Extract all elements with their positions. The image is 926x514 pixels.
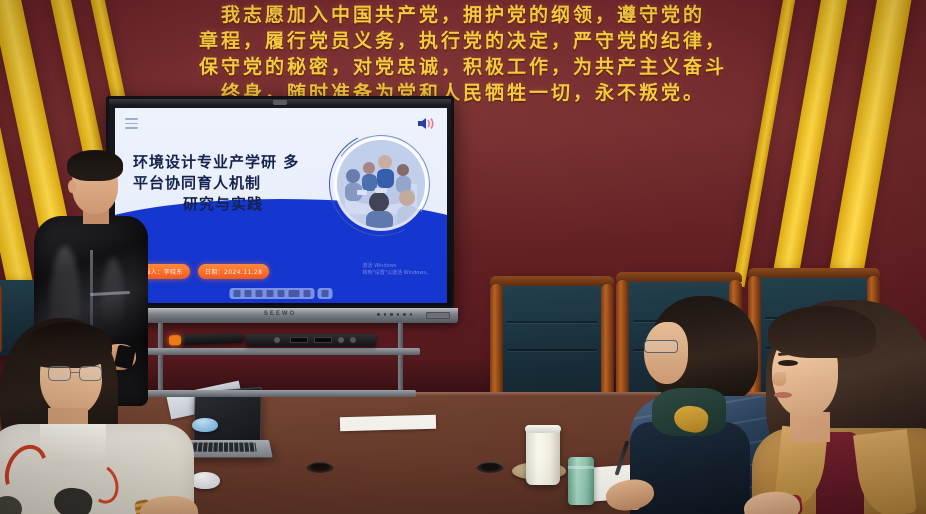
- chair-arm-left: [490, 284, 503, 402]
- paper-sheet: [340, 415, 436, 432]
- attendee-right-lips: [774, 392, 792, 398]
- chair-top-trim: [490, 276, 614, 286]
- pen-icon[interactable]: [245, 290, 252, 297]
- white-cup: [526, 425, 560, 485]
- pointer-icon[interactable]: [234, 290, 241, 297]
- chair-seam-upper: [507, 321, 598, 323]
- presenter-ear: [68, 180, 76, 193]
- seated-attendee-left: [0, 318, 210, 514]
- watermark-line-2: 转到"设置"以激活 Windows。: [362, 270, 431, 277]
- receiver-knob-3: [350, 337, 356, 343]
- page-indicator[interactable]: [289, 290, 300, 297]
- slide-title-line-1: 环境设计专业产学研: [133, 153, 277, 171]
- panel-port: [426, 312, 450, 319]
- highlight-icon[interactable]: [267, 290, 274, 297]
- green-cup: [568, 457, 594, 505]
- speaker-icon[interactable]: [417, 117, 437, 130]
- panel-stand-right: [398, 323, 403, 391]
- interactive-flat-panel[interactable]: 环境设计专业产学研 多平台协同育人机制 研究与实践: [106, 96, 454, 326]
- receiver-display-1: [290, 337, 308, 343]
- table-cable-grommet-2: [476, 462, 504, 473]
- presenter-hair: [67, 150, 123, 181]
- presentation-slide[interactable]: 环境设计专业产学研 多平台协同育人机制 研究与实践: [115, 108, 447, 303]
- attendee-center-face: [644, 322, 688, 384]
- panel-screen[interactable]: 环境设计专业产学研 多平台协同育人机制 研究与实践: [115, 108, 447, 303]
- chair-top-trim: [616, 272, 742, 282]
- audio-receiver: [246, 334, 376, 346]
- table-cable-grommet-1: [306, 462, 334, 473]
- attendee-left-hair-front: [26, 322, 112, 368]
- chair-back: [498, 276, 606, 402]
- attendee-right-hair-front: [768, 306, 876, 358]
- receiver-knob-2: [338, 337, 344, 343]
- camera-icon: [273, 100, 287, 105]
- receiver-display-2: [314, 337, 332, 343]
- eyeglasses: [644, 340, 678, 353]
- hamburger-icon[interactable]: [125, 118, 138, 129]
- panel-control-buttons[interactable]: [377, 313, 412, 316]
- chair-top-trim: [748, 268, 880, 278]
- panel-top-bar: [109, 99, 451, 106]
- glasses-bridge: [71, 372, 79, 373]
- watermark-line-1: 激活 Windows: [362, 263, 431, 270]
- toolbar-group-more[interactable]: [318, 288, 333, 299]
- slide-title-line-3: 研究与实践: [133, 194, 313, 215]
- eraser-icon[interactable]: [256, 290, 263, 297]
- undo-icon[interactable]: [278, 290, 285, 297]
- toolbar-group-main[interactable]: [230, 288, 315, 299]
- jacket-collar: [40, 424, 106, 468]
- eyeglasses: [48, 366, 104, 381]
- lens-left: [48, 366, 71, 381]
- receiver-knob-1: [274, 337, 280, 343]
- slide-photo-circle: [329, 132, 433, 236]
- date-badge: 日期：2024.11.28: [198, 264, 270, 279]
- seated-attendee-right: [762, 300, 926, 514]
- attendee-right-eye: [778, 360, 798, 366]
- panel-brand-label: SEEWO: [264, 311, 296, 317]
- more-options-icon[interactable]: [322, 290, 329, 297]
- windows-activation-watermark: 激活 Windows 转到"设置"以激活 Windows。: [362, 263, 431, 277]
- conference-chair-1: [498, 276, 606, 402]
- panel-bezel: 环境设计专业产学研 多平台协同育人机制 研究与实践: [106, 96, 454, 308]
- fullscreen-icon[interactable]: [304, 290, 311, 297]
- meeting-room-photo: 我志愿加入中国共产党，拥护党的纲领，遵守党的 章程，履行党员义务，执行党的决定，…: [0, 0, 926, 514]
- attendee-right-nose: [772, 372, 786, 386]
- chair-seam-lower: [507, 349, 598, 351]
- group-workshop-photo: [337, 140, 425, 228]
- slide-title: 环境设计专业产学研 多平台协同育人机制 研究与实践: [133, 152, 313, 215]
- lens-right: [79, 366, 102, 381]
- slide-toolbar[interactable]: [230, 288, 333, 299]
- chair-arm-right: [601, 284, 614, 402]
